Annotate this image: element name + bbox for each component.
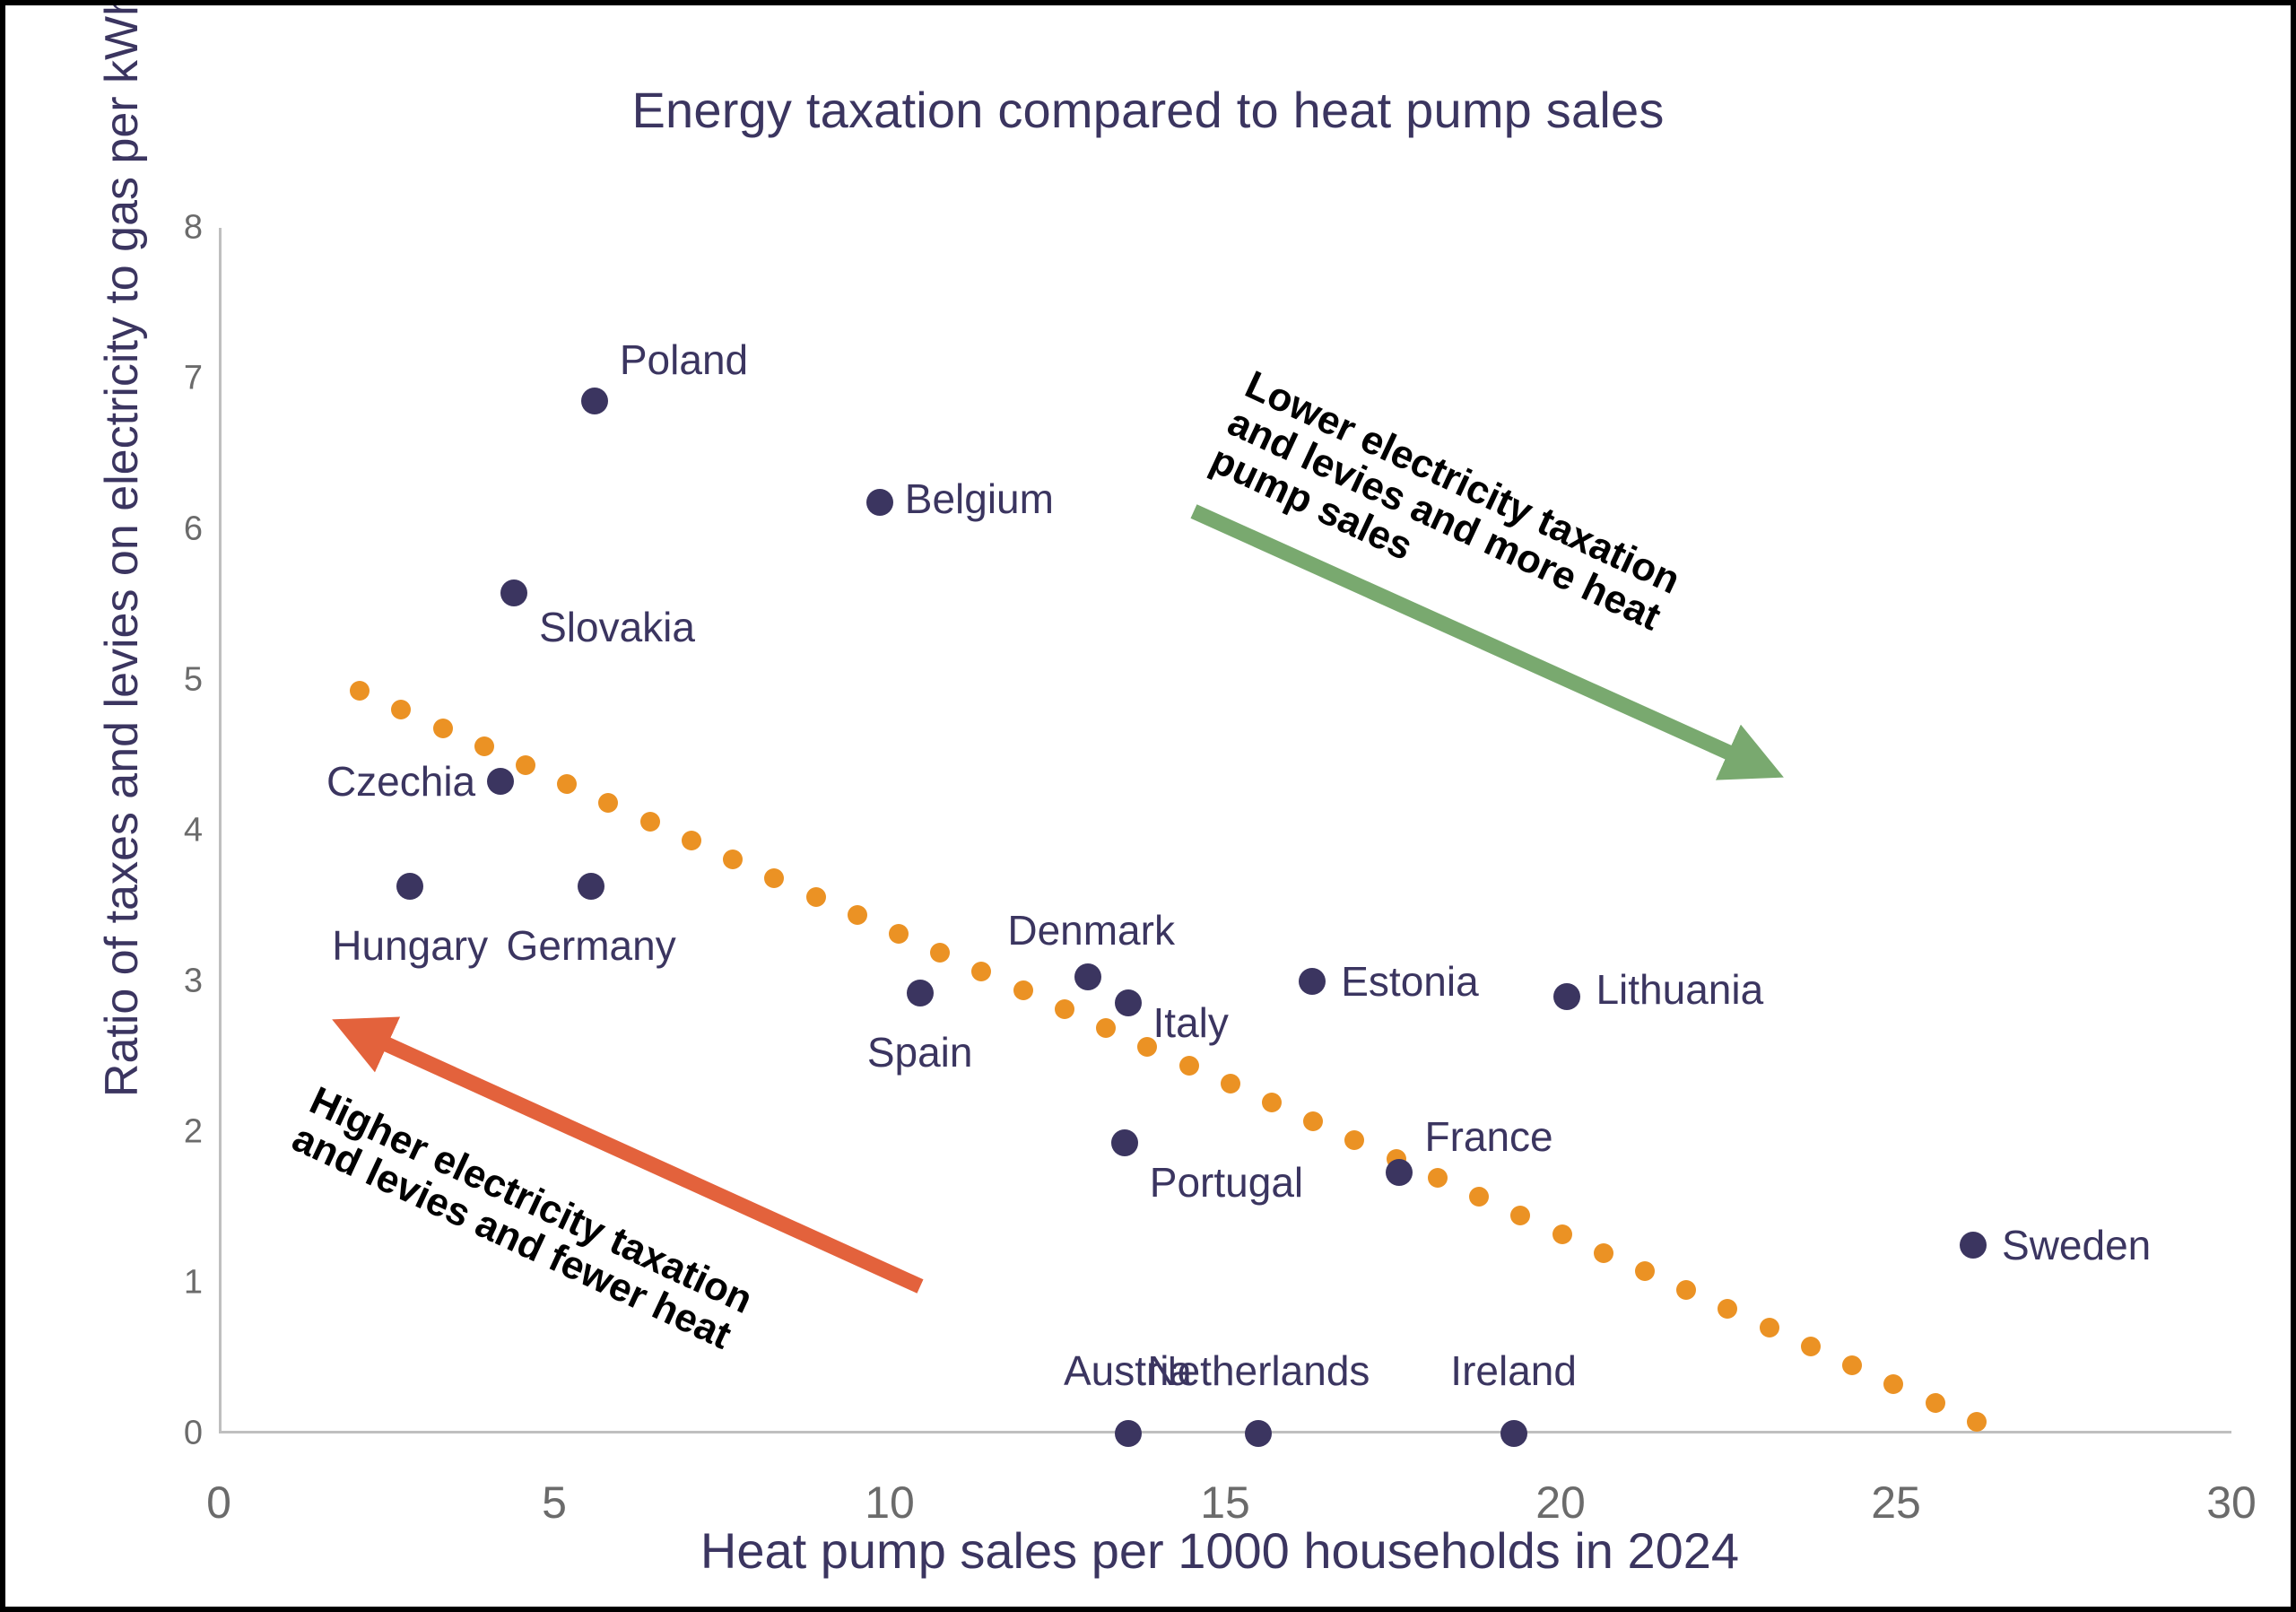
trendline-dot: [1967, 1412, 1987, 1432]
data-point-austria[interactable]: [1115, 1420, 1142, 1447]
trendline-dot: [1760, 1318, 1779, 1338]
trendline-dot: [1013, 980, 1033, 1000]
data-point-germany[interactable]: [578, 873, 604, 900]
data-point-slovakia[interactable]: [500, 579, 527, 606]
page-title: Energy taxation compared to heat pump sa…: [5, 81, 2291, 139]
trendline-dot: [557, 774, 577, 794]
data-point-italy[interactable]: [1115, 989, 1142, 1016]
trendline-dot: [930, 943, 950, 963]
data-point-ireland[interactable]: [1500, 1420, 1527, 1447]
data-point-czechia[interactable]: [487, 768, 514, 795]
trendline-dot: [806, 887, 826, 907]
data-label-poland: Poland: [620, 335, 748, 384]
trendline-dot: [1635, 1261, 1655, 1281]
trendline-dot: [1055, 999, 1074, 1019]
data-label-france: France: [1424, 1112, 1552, 1161]
data-label-ireland: Ireland: [1450, 1346, 1577, 1395]
data-point-poland[interactable]: [581, 388, 608, 414]
trendline-dot: [1179, 1056, 1199, 1076]
data-point-france[interactable]: [1386, 1159, 1413, 1186]
trendline-dot: [1510, 1206, 1530, 1225]
data-label-lithuania: Lithuania: [1596, 965, 1763, 1014]
trendline-dot: [1676, 1280, 1696, 1300]
y-tick-label: 4: [184, 812, 203, 850]
y-tick-label: 7: [184, 360, 203, 398]
y-tick-label: 3: [184, 963, 203, 1001]
data-point-lithuania[interactable]: [1553, 983, 1580, 1010]
trendline-dot: [640, 812, 660, 832]
trendline-dot: [1344, 1130, 1364, 1150]
data-point-estonia[interactable]: [1299, 968, 1326, 995]
trendline-dot: [1221, 1074, 1240, 1094]
data-label-denmark: Denmark: [1007, 906, 1175, 954]
data-label-slovakia: Slovakia: [539, 603, 695, 651]
data-label-belgium: Belgium: [905, 475, 1054, 523]
data-label-sweden: Sweden: [2002, 1221, 2151, 1269]
y-tick-label: 0: [184, 1415, 203, 1453]
y-tick-label: 2: [184, 1113, 203, 1152]
data-point-spain[interactable]: [907, 980, 934, 1006]
trendline-dot: [1594, 1243, 1613, 1263]
trendline-dot: [723, 850, 743, 869]
trendline-dot: [598, 793, 618, 813]
trendline-dot: [1096, 1018, 1116, 1038]
y-tick-label: 8: [184, 209, 203, 248]
data-label-estonia: Estonia: [1341, 957, 1478, 1006]
trendline-dot: [1303, 1111, 1323, 1131]
data-point-sweden[interactable]: [1960, 1232, 1987, 1259]
y-axis-line: [219, 228, 222, 1433]
data-label-spain: Spain: [867, 1028, 973, 1076]
trendline-dot: [971, 962, 991, 981]
trendline-dot: [1469, 1187, 1489, 1207]
trendline-dot: [1842, 1355, 1862, 1375]
trendline-dot: [1552, 1224, 1572, 1244]
trendline-dot: [474, 736, 494, 756]
data-label-italy: Italy: [1153, 998, 1229, 1047]
chart-page: Energy taxation compared to heat pump sa…: [0, 0, 2296, 1612]
y-tick-label: 1: [184, 1264, 203, 1303]
data-point-netherlands[interactable]: [1245, 1420, 1272, 1447]
data-label-netherlands: Netherlands: [1147, 1346, 1370, 1395]
trendline-dot: [1718, 1299, 1737, 1319]
data-label-hungary: Hungary: [332, 921, 488, 970]
trendline-dot: [391, 700, 411, 719]
trendline-dot: [764, 868, 784, 888]
trendline-dot: [848, 905, 867, 925]
y-tick-label: 6: [184, 510, 203, 549]
trendline-dot: [1926, 1393, 1945, 1413]
trendline-dot: [516, 755, 535, 775]
data-point-hungary[interactable]: [396, 873, 423, 900]
trendline-dot: [1801, 1337, 1821, 1356]
x-axis-line: [219, 1431, 2231, 1433]
trendline-dot: [889, 924, 909, 944]
trendline-dot: [1883, 1374, 1903, 1394]
data-point-denmark[interactable]: [1074, 963, 1101, 990]
trendline-dot: [1262, 1093, 1282, 1112]
data-label-portugal: Portugal: [1150, 1158, 1303, 1207]
x-axis-title: Heat pump sales per 1000 households in 2…: [203, 1521, 2237, 1580]
trendline-dot: [433, 719, 453, 738]
data-label-czechia: Czechia: [326, 757, 475, 806]
y-axis-title: Ratio of taxes and levies on electricity…: [95, 0, 149, 1216]
data-point-portugal[interactable]: [1111, 1129, 1138, 1156]
trendline-dot: [350, 681, 370, 701]
trendline-dot: [1428, 1168, 1448, 1188]
y-tick-label: 5: [184, 661, 203, 700]
data-point-belgium[interactable]: [866, 489, 893, 516]
trendline-dot: [682, 831, 701, 850]
data-label-germany: Germany: [507, 921, 676, 970]
